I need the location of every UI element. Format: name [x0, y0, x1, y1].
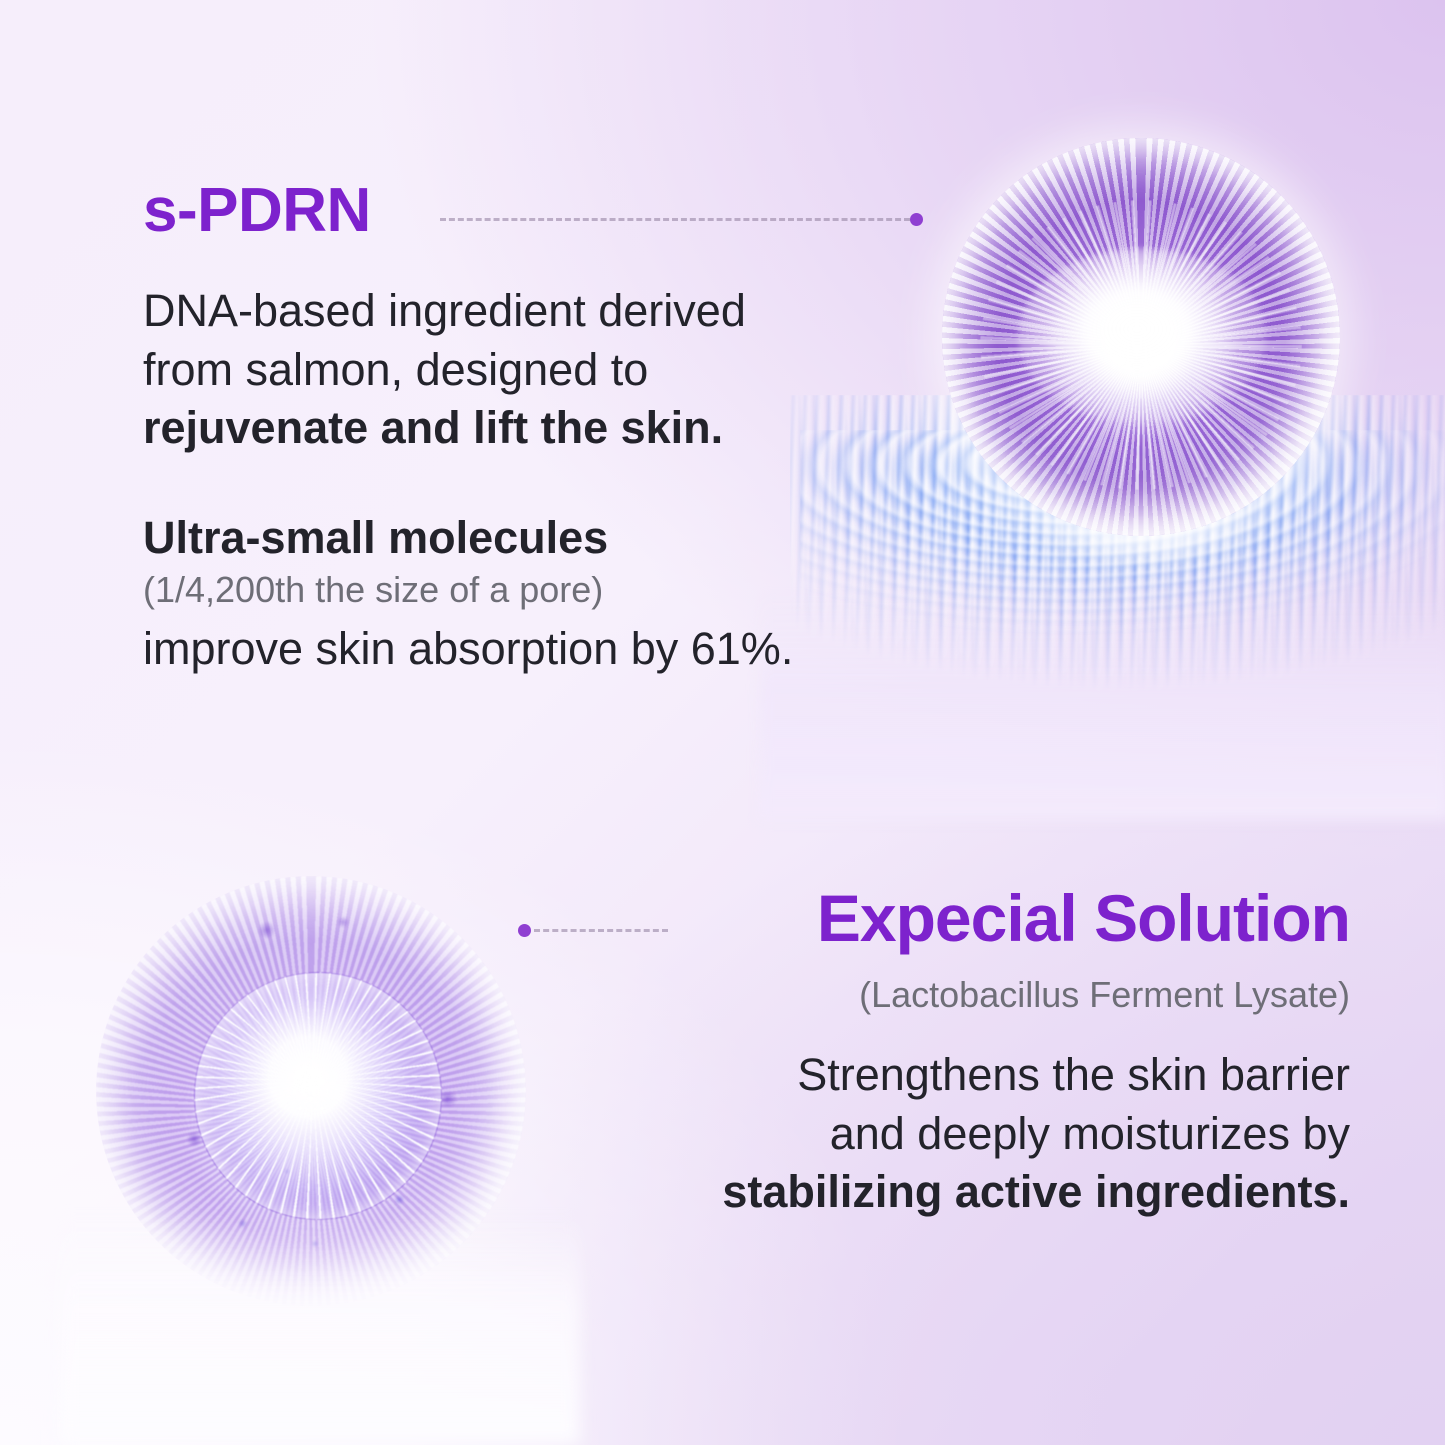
top-sphere-streaks [980, 200, 1302, 490]
section-s-pdrn: s-PDRN DNA-based ingredient derived from… [143, 180, 883, 677]
s-pdrn-heading: s-PDRN [143, 180, 883, 242]
top-sphere-rim-highlight [942, 138, 1340, 536]
expecial-body-line-3: stabilizing active ingredients. [722, 1166, 1350, 1217]
expecial-solution-heading: Expecial Solution [560, 885, 1350, 951]
water-ripple-rings [800, 430, 1445, 680]
water-ripple-surface [790, 395, 1445, 725]
s-pdrn-body-line-2: from salmon, designed to [143, 344, 648, 395]
bottom-sphere-inner-core [194, 972, 442, 1220]
section-expecial-solution: Expecial Solution (Lactobacillus Ferment… [560, 885, 1350, 1222]
s-pdrn-body-line-3: rejuvenate and lift the skin. [143, 402, 723, 453]
expecial-solution-description: Strengthens the skin barrier and deeply … [560, 1046, 1350, 1222]
expecial-solution-subtitle: (Lactobacillus Ferment Lysate) [560, 973, 1350, 1016]
expecial-body-line-2: and deeply moisturizes by [830, 1108, 1350, 1159]
product-ingredient-infographic: s-PDRN DNA-based ingredient derived from… [0, 0, 1445, 1445]
top-sphere-image [942, 138, 1340, 536]
bottom-sphere-specks [110, 890, 512, 1292]
water-impact-glow [1035, 455, 1255, 565]
s-pdrn-body-line-1: DNA-based ingredient derived [143, 285, 746, 336]
pore-size-note: (1/4,200th the size of a pore) [143, 568, 883, 611]
bottom-sphere-fade [60, 1215, 580, 1445]
connector-dot-icon [518, 924, 531, 937]
bottom-sphere-image [96, 876, 526, 1306]
expecial-body-line-1: Strengthens the skin barrier [797, 1049, 1350, 1100]
ultra-small-molecules-title: Ultra-small molecules [143, 510, 883, 566]
top-sphere-core-glow [1018, 248, 1266, 424]
absorption-stat-line: improve skin absorption by 61%. [143, 621, 883, 677]
s-pdrn-description: DNA-based ingredient derived from salmon… [143, 282, 883, 458]
connector-dot-icon [910, 213, 923, 226]
